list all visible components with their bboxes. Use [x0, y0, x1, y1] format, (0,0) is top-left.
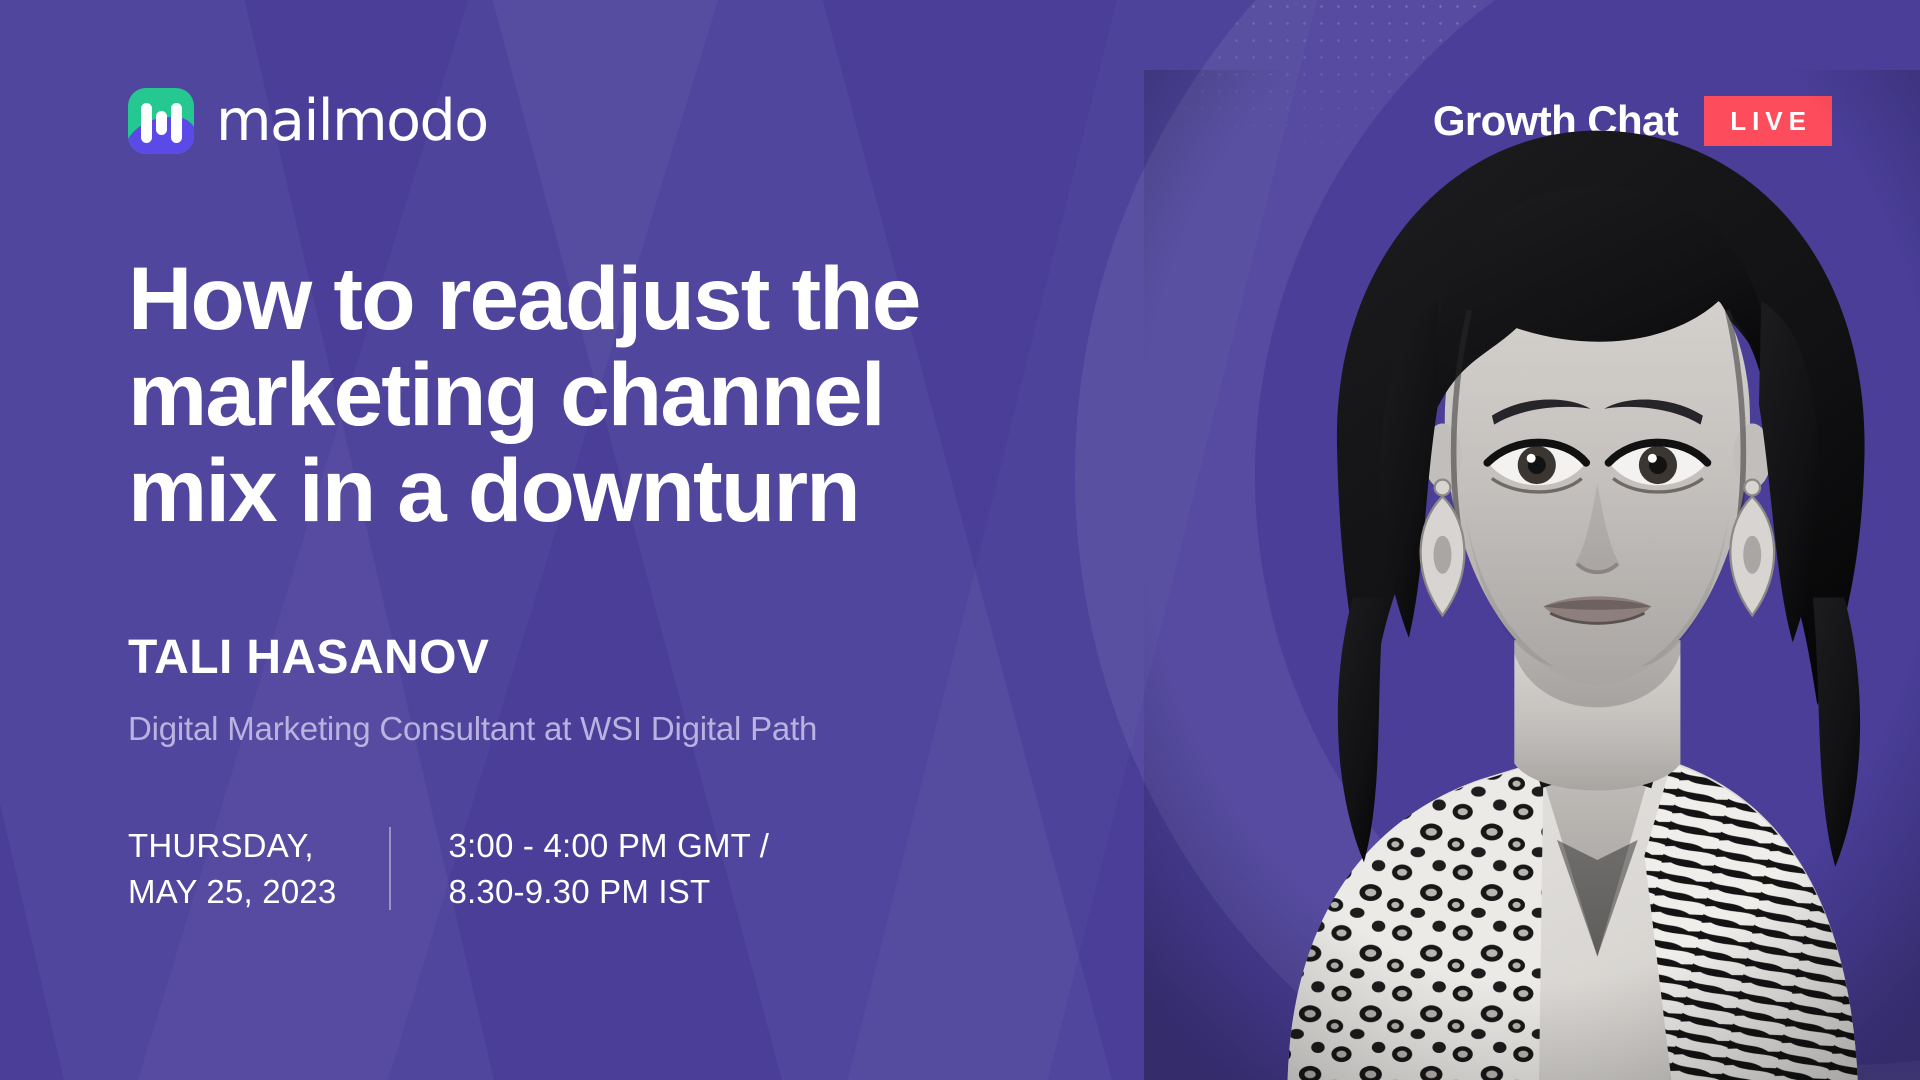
- brand-lockup: mailmodo: [128, 88, 488, 154]
- logo-bar-left: [141, 103, 152, 143]
- mailmodo-wordmark: mailmodo: [216, 93, 488, 150]
- logo-bar-right: [171, 103, 182, 143]
- mailmodo-logo-icon: [128, 88, 194, 154]
- headline-line-1: How to readjust the: [128, 250, 1208, 346]
- speaker-name: TALI HASANOV: [128, 634, 1208, 682]
- schedule-time: 3:00 - 4:00 PM GMT / 8.30-9.30 PM IST: [391, 823, 770, 914]
- logo-bar-middle: [156, 111, 167, 135]
- webinar-promo-banner: mailmodo Growth Chat LIVE How to readjus…: [0, 0, 1920, 1080]
- schedule-block: THURSDAY, MAY 25, 2023 3:00 - 4:00 PM GM…: [128, 823, 1208, 914]
- headline-line-3: mix in a downturn: [128, 442, 1208, 538]
- speaker-title: Digital Marketing Consultant at WSI Digi…: [128, 712, 1208, 745]
- speaker-portrait: [1080, 0, 1920, 1080]
- headline-line-2: marketing channel: [128, 346, 1208, 442]
- speaker-block: TALI HASANOV Digital Marketing Consultan…: [128, 634, 1208, 745]
- headline: How to readjust the marketing channel mi…: [128, 250, 1208, 538]
- banner-content: How to readjust the marketing channel mi…: [128, 250, 1208, 914]
- schedule-date: THURSDAY, MAY 25, 2023: [128, 823, 389, 914]
